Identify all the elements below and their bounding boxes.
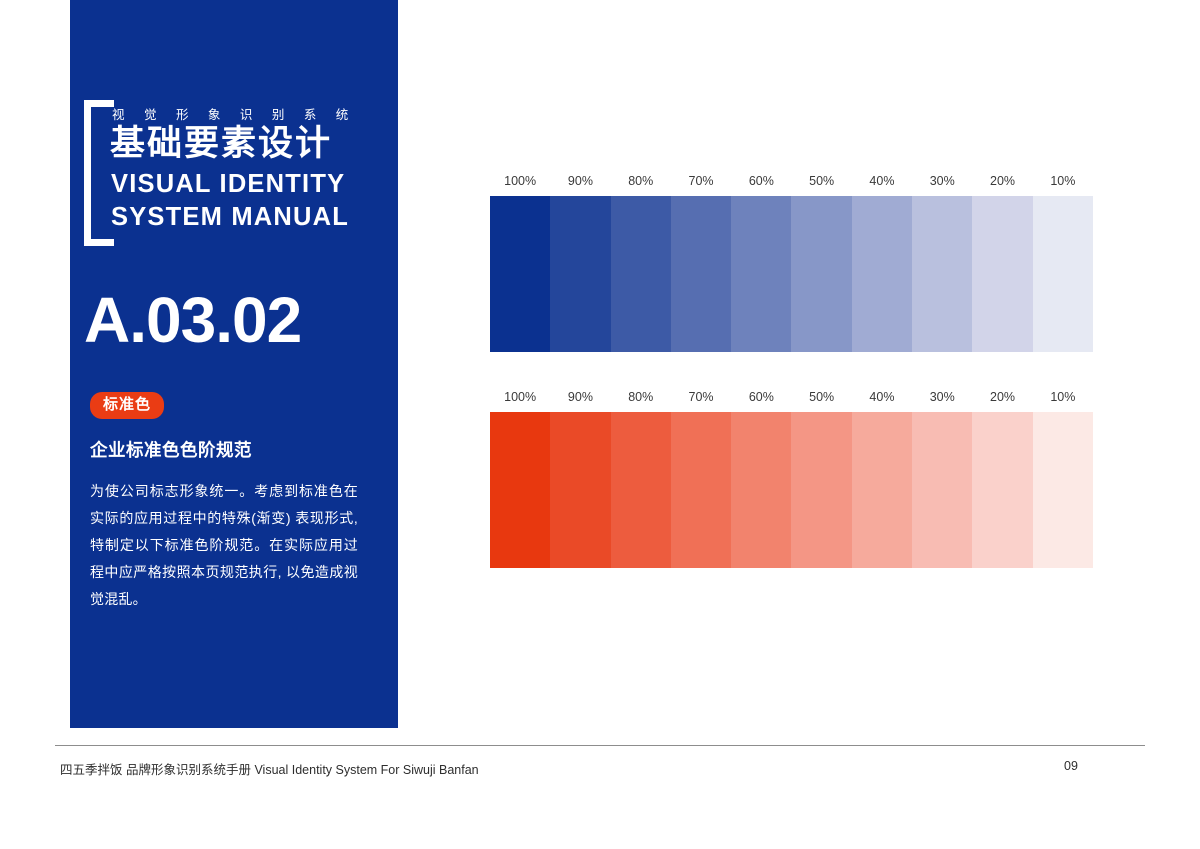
color-swatch	[1033, 196, 1093, 352]
scale-label: 80%	[611, 174, 671, 188]
orange-scale-labels: 100%90%80%70%60%50%40%30%20%10%	[490, 390, 1093, 412]
scale-label: 40%	[852, 390, 912, 404]
color-swatch	[731, 196, 791, 352]
scale-label: 20%	[972, 174, 1032, 188]
scale-label: 20%	[972, 390, 1032, 404]
scale-label: 30%	[912, 174, 972, 188]
scale-label: 60%	[731, 390, 791, 404]
color-swatch	[731, 412, 791, 568]
orange-tint-scale: 100%90%80%70%60%50%40%30%20%10%	[490, 390, 1093, 568]
panel-title-english-line2: SYSTEM MANUAL	[111, 203, 349, 232]
footer-divider	[55, 745, 1145, 746]
scale-label: 70%	[671, 390, 731, 404]
scale-label: 100%	[490, 174, 550, 188]
color-swatch	[671, 196, 731, 352]
scale-label: 70%	[671, 174, 731, 188]
scale-label: 50%	[792, 390, 852, 404]
scale-label: 100%	[490, 390, 550, 404]
footer-caption: 四五季拌饭 品牌形象识别系统手册 Visual Identity System …	[60, 759, 479, 778]
bracket-bottom-bar	[84, 239, 114, 246]
color-swatch	[550, 196, 610, 352]
panel-kicker: 视 觉 形 象 识 别 系 统	[112, 104, 356, 123]
bracket-decoration-icon	[84, 100, 114, 246]
scale-label: 10%	[1033, 174, 1093, 188]
color-swatch	[490, 412, 550, 568]
color-swatch	[791, 412, 851, 568]
color-swatch	[671, 412, 731, 568]
color-swatch	[611, 196, 671, 352]
panel-body-text: 为使公司标志形象统一。考虑到标准色在实际的应用过程中的特殊(渐变) 表现形式, …	[90, 478, 358, 613]
scale-label: 60%	[731, 174, 791, 188]
color-swatch	[912, 196, 972, 352]
bracket-top-bar	[84, 100, 114, 107]
color-swatch	[852, 196, 912, 352]
color-swatch	[912, 412, 972, 568]
panel-title-chinese: 基础要素设计	[110, 124, 332, 164]
color-swatch	[611, 412, 671, 568]
color-swatch	[852, 412, 912, 568]
scale-label: 80%	[611, 390, 671, 404]
blue-scale-labels: 100%90%80%70%60%50%40%30%20%10%	[490, 174, 1093, 196]
color-swatch	[490, 196, 550, 352]
scale-label: 40%	[852, 174, 912, 188]
scale-label: 50%	[792, 174, 852, 188]
status-badge: 标准色	[90, 392, 164, 419]
scale-label: 90%	[550, 174, 610, 188]
panel-title-english-line1: VISUAL IDENTITY	[111, 170, 345, 199]
orange-scale-swatches	[490, 412, 1093, 568]
section-code: A.03.02	[84, 288, 301, 352]
color-swatch	[1033, 412, 1093, 568]
scale-label: 30%	[912, 390, 972, 404]
scale-label: 10%	[1033, 390, 1093, 404]
page-number: 09	[1064, 759, 1078, 773]
panel-subheading: 企业标准色色阶规范	[90, 437, 252, 462]
blue-scale-swatches	[490, 196, 1093, 352]
color-swatch	[972, 196, 1032, 352]
scale-label: 90%	[550, 390, 610, 404]
bracket-vertical-bar	[84, 100, 91, 246]
color-swatch	[550, 412, 610, 568]
color-swatch	[972, 412, 1032, 568]
color-swatch	[791, 196, 851, 352]
blue-tint-scale: 100%90%80%70%60%50%40%30%20%10%	[490, 174, 1093, 352]
